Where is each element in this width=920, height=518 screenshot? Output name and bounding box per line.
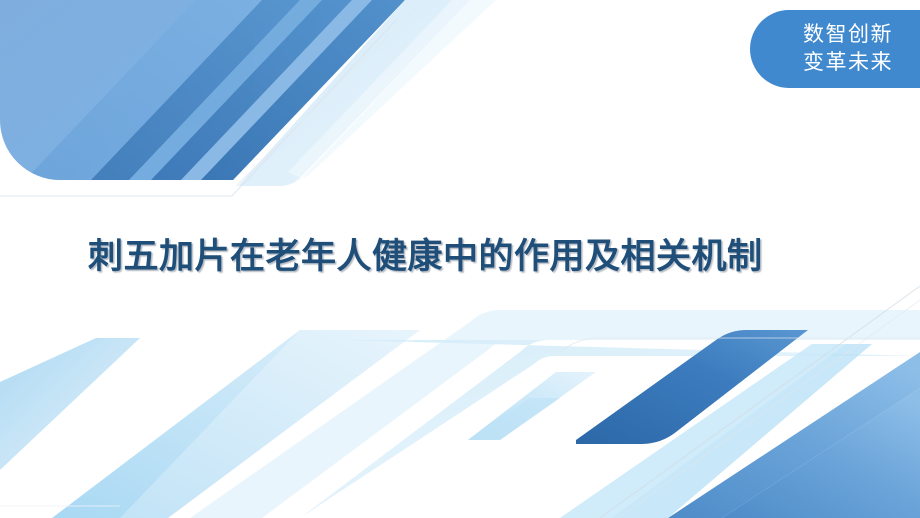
- hairline-c: [560, 338, 920, 352]
- badge-line-1: 数智创新: [803, 21, 893, 49]
- page-title: 刺五加片在老年人健康中的作用及相关机制: [88, 232, 808, 283]
- top-left-blue-block: [0, 0, 405, 200]
- bottom-right-big-triangle: [560, 344, 920, 518]
- badge-line-2: 变革未来: [803, 49, 893, 77]
- slide-canvas: 数智创新 变革未来 刺五加片在老年人健康中的作用及相关机制: [0, 0, 920, 518]
- hairline-b: [618, 300, 920, 518]
- bottom-swoosh: [190, 310, 920, 518]
- hairline-a: [600, 286, 920, 518]
- brand-badge: 数智创新 变革未来: [750, 10, 920, 88]
- bottom-right-dark-shape: [576, 330, 808, 444]
- title-block: 刺五加片在老年人健康中的作用及相关机制: [88, 232, 808, 283]
- bottom-small-wedge: [468, 372, 596, 440]
- bottom-left-bands: [0, 330, 920, 518]
- top-right-pale-wedges: [238, 0, 496, 186]
